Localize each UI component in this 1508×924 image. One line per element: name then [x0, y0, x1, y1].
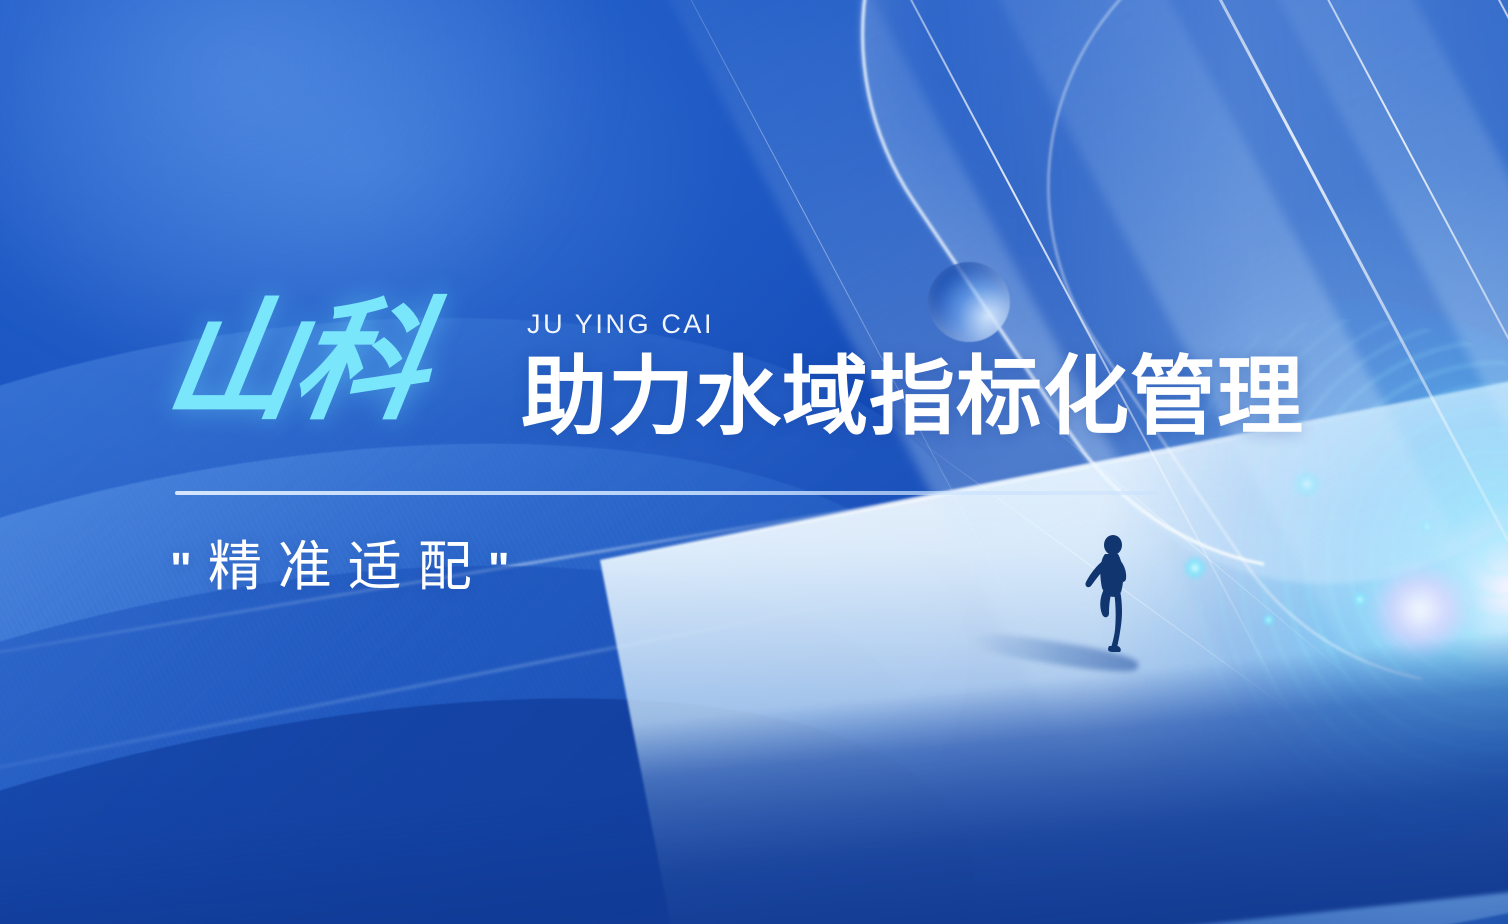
banner-content: 山科 JU YING CAI 助力水域指标化管理 "精准适配" [0, 0, 1508, 924]
subtitle-open-quote: " [170, 543, 208, 595]
promo-banner: 山科 JU YING CAI 助力水域指标化管理 "精准适配" [0, 0, 1508, 924]
brand-pinyin: JU YING CAI [527, 309, 714, 340]
subtitle-text: 精准适配 [208, 537, 488, 597]
divider [175, 491, 1157, 495]
page-title: 助力水域指标化管理 [521, 354, 1304, 440]
subtitle-close-quote: " [488, 543, 526, 595]
subtitle: "精准适配" [170, 540, 526, 594]
brand-logo: 山科 [158, 296, 435, 428]
